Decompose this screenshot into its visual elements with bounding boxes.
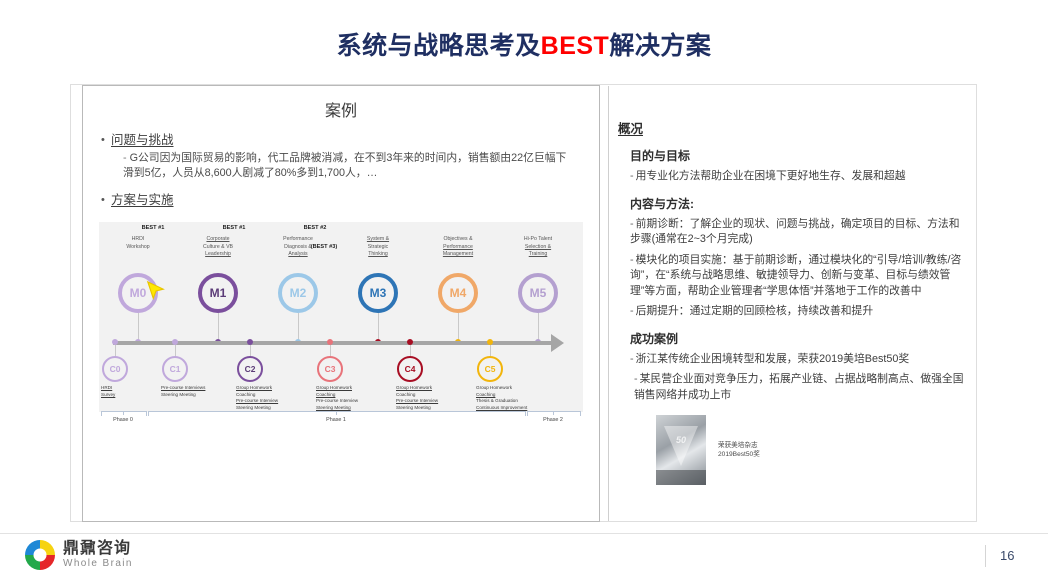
module-label-line: Thinking <box>335 251 421 259</box>
module-label-line: Selection & <box>495 244 581 252</box>
module-label-m5: Hi-Po Talent Selection & Training <box>495 236 581 259</box>
checkpoint-desc-line: Group Homework <box>396 385 476 392</box>
best-tag-left: BEST #1 <box>123 225 183 231</box>
module-label-line: Corporate <box>175 236 261 244</box>
section-heading: 问题与挑战 <box>111 133 174 148</box>
module-label-m2: Performance Diagnosis & Analysis <box>255 236 341 259</box>
checkpoint-desc-line: Thesis & Graduation <box>476 398 556 405</box>
checkpoint-node-label: C0 <box>110 364 121 374</box>
module-node-label: M5 <box>530 286 547 300</box>
section-body-problem: -G公司因为国际贸易的影响，代工品牌被消减，在不到3年来的时间内，销售额由22亿… <box>123 151 575 181</box>
module-node-label: M0 <box>130 286 147 300</box>
module-label-line: Analysis <box>255 251 341 259</box>
award-block: 50 荣获美培杂志 2019Best50奖 <box>656 415 970 485</box>
checkpoint-desc-line: Coaching <box>476 392 556 399</box>
checkpoint-node-c3[interactable]: C3 <box>317 356 343 382</box>
trophy-glass <box>664 426 698 466</box>
checkpoint-node-label: C1 <box>170 364 181 374</box>
case-heading: 案例 <box>83 97 599 121</box>
column-divider <box>608 86 609 521</box>
checkpoint-desc-c5: Group Homework Coaching Thesis & Graduat… <box>476 385 556 411</box>
phase-bracket-0 <box>101 411 147 416</box>
module-node-m3[interactable]: M3 <box>358 273 398 313</box>
brand-logo: 鼎鼐咨询 Whole Brain <box>25 540 133 570</box>
phase-label-1: Phase 1 <box>306 417 366 423</box>
overview-text: 后期提升：通过定期的回顾检核，持续改善和提升 <box>636 305 874 317</box>
section-body-text: G公司因为国际贸易的影响，代工品牌被消减，在不到3年来的时间内，销售额由22亿巨… <box>123 152 566 179</box>
module-node-m1[interactable]: M1 <box>198 273 238 313</box>
section-heading: 方案与实施 <box>111 193 174 208</box>
module-stem <box>138 313 139 341</box>
dash-marker: - <box>634 373 638 385</box>
whole-brain-logo-icon <box>25 540 55 570</box>
checkpoint-node-c0[interactable]: C0 <box>102 356 128 382</box>
overview-subheading-method: 内容与方法: <box>630 195 970 212</box>
module-label-line: Hi-Po Talent <box>495 236 581 244</box>
overview-text-case2: -某民营企业面对竞争压力，拓展产业链、占据战略制高点、做强全国销售网络并成功上市 <box>634 372 970 403</box>
phase-bracket-1 <box>148 411 526 416</box>
checkpoint-desc-line: Pre-course Interview <box>396 398 476 405</box>
phase-label-0: Phase 0 <box>93 417 153 423</box>
brand-name-cn: 鼎鼐咨询 <box>63 540 133 557</box>
page-title: 系统与战略思考及BEST解决方案 <box>0 26 1048 62</box>
checkpoint-desc-c4: Group Homework Coaching Pre-course Inter… <box>396 385 476 411</box>
dash-marker: - <box>630 305 634 317</box>
overview-heading: 概况 <box>618 118 970 137</box>
brand-text: 鼎鼐咨询 Whole Brain <box>63 540 133 570</box>
module-label-line: Management <box>415 251 501 259</box>
dash-marker: - <box>630 170 634 182</box>
trophy-image: 50 <box>656 415 706 485</box>
checkpoint-desc-line: Coaching <box>316 392 396 399</box>
module-label-m0: HRDI Workshop <box>95 236 181 251</box>
checkpoint-desc-c1: Pre-course Interviews Steering Meeting <box>161 385 241 398</box>
module-stem <box>538 313 539 341</box>
checkpoint-desc-line: Steering Meeting <box>161 392 241 399</box>
case-section-problem: • 问题与挑战 <box>101 133 599 148</box>
trophy-number: 50 <box>656 435 706 445</box>
checkpoint-desc-line: Pre-course Interview <box>316 398 396 405</box>
module-label-line: Training <box>495 251 581 259</box>
checkpoint-node-label: C2 <box>245 364 256 374</box>
checkpoint-desc-c3: Group Homework Coaching Pre-course Inter… <box>316 385 396 411</box>
logo-center-ring <box>34 549 47 562</box>
module-label-line: Objectives & <box>415 236 501 244</box>
overview-text: 浙江某传统企业困境转型和发展，荣获2019美培Best50奖 <box>636 353 910 365</box>
module-label-line: Performance <box>415 244 501 252</box>
bullet-dot: • <box>101 133 111 148</box>
module-label-line: Culture & VB <box>175 244 261 252</box>
module-node-label: M3 <box>370 286 387 300</box>
dash-marker: - <box>123 152 127 164</box>
checkpoint-desc-line: Coaching <box>236 392 316 399</box>
module-node-label: M1 <box>210 286 227 300</box>
module-node-m4[interactable]: M4 <box>438 273 478 313</box>
module-label-line: Performance <box>255 236 341 244</box>
award-caption-line2: 2019Best50奖 <box>718 450 760 459</box>
checkpoint-node-c1[interactable]: C1 <box>162 356 188 382</box>
overview-text-diagnosis: -前期诊断：了解企业的现状、问题与挑战，确定项目的目标、方法和步骤(通常在2~3… <box>630 217 970 248</box>
module-node-label: M4 <box>450 286 467 300</box>
dash-marker: - <box>630 254 634 266</box>
module-label-line: HRDI <box>95 236 181 244</box>
module-node-label: M2 <box>290 286 307 300</box>
overview-text-case1: -浙江某传统企业困境转型和发展，荣获2019美培Best50奖 <box>630 352 970 368</box>
module-stem <box>298 313 299 341</box>
overview-text: 用专业化方法帮助企业在困境下更好地生存、发展和超越 <box>636 170 906 182</box>
module-label-line: System & <box>335 236 421 244</box>
bullet-dot: • <box>101 193 111 208</box>
award-caption-line1: 荣获美培杂志 <box>718 441 760 450</box>
overview-text-followup: -后期提升：通过定期的回顾检核，持续改善和提升 <box>630 304 970 320</box>
module-stem <box>378 313 379 341</box>
overview-panel: 概况 目的与目标 -用专业化方法帮助企业在困境下更好地生存、发展和超越 内容与方… <box>618 118 970 485</box>
footer-divider <box>0 533 1048 534</box>
dash-marker: - <box>630 353 634 365</box>
checkpoint-node-c2[interactable]: C2 <box>237 356 263 382</box>
checkpoint-node-label: C5 <box>485 364 496 374</box>
checkpoint-desc-line: Pre-course Interview <box>236 398 316 405</box>
phase-bracket-2 <box>527 411 581 416</box>
checkpoint-desc-line: Group Homework <box>316 385 396 392</box>
module-stem <box>458 313 459 341</box>
page-number: 16 <box>1000 548 1014 563</box>
overview-text: 模块化的项目实施：基于前期诊断，通过模块化的“引导/培训/教练/咨询”，在“系统… <box>630 254 961 297</box>
overview-subheading-purpose: 目的与目标 <box>630 147 970 164</box>
checkpoint-node-label: C3 <box>325 364 336 374</box>
title-main: 系统与战略思考及 <box>337 32 541 60</box>
module-label-line: Workshop <box>95 244 181 252</box>
checkpoint-desc-line: Pre-course Interviews <box>161 385 241 392</box>
cursor-arrow-icon <box>145 280 167 302</box>
timeline-arrow-icon <box>551 334 564 352</box>
phase-label-2: Phase 2 <box>523 417 583 423</box>
module-label-m1: Corporate Culture & VB Leadership <box>175 236 261 259</box>
module-label-line: Diagnosis & <box>255 244 341 252</box>
checkpoint-desc-c2: Group Homework Coaching Pre-course Inter… <box>236 385 316 411</box>
checkpoint-node-c4[interactable]: C4 <box>397 356 423 382</box>
trophy-base <box>656 470 706 485</box>
phase-tick <box>553 411 554 415</box>
overview-text-modular: -模块化的项目实施：基于前期诊断，通过模块化的“引导/培训/教练/咨询”，在“系… <box>630 253 970 300</box>
phase-tick <box>123 411 124 415</box>
module-node-m5[interactable]: M5 <box>518 273 558 313</box>
award-caption: 荣获美培杂志 2019Best50奖 <box>718 441 760 459</box>
checkpoint-desc-line: Group Homework <box>236 385 316 392</box>
brand-name-en: Whole Brain <box>63 557 133 570</box>
title-accent: BEST <box>541 32 610 60</box>
overview-text-purpose: -用专业化方法帮助企业在困境下更好地生存、发展和超越 <box>630 169 970 185</box>
overview-text: 前期诊断：了解企业的现状、问题与挑战，确定项目的目标、方法和步骤(通常在2~3个… <box>630 218 960 246</box>
best-tag-m1: BEST #1 <box>204 225 264 231</box>
dash-marker: - <box>630 218 634 230</box>
title-tail: 解决方案 <box>609 32 711 60</box>
module-label-m4: Objectives & Performance Management <box>415 236 501 259</box>
module-label-m3: System & Strategic Thinking <box>335 236 421 259</box>
case-section-solution: • 方案与实施 <box>101 193 599 208</box>
overview-subheading-cases: 成功案例 <box>630 330 970 347</box>
module-node-m2[interactable]: M2 <box>278 273 318 313</box>
module-label-line: Leadership <box>175 251 261 259</box>
checkpoint-node-label: C4 <box>405 364 416 374</box>
roadmap-diagram: BEST #1 BEST #1 BEST #2 (BEST #3) HRDI W… <box>99 222 583 412</box>
checkpoint-desc-line: Coaching <box>396 392 476 399</box>
best-tag-m3: BEST #2 <box>285 225 345 231</box>
checkpoint-node-c5[interactable]: C5 <box>477 356 503 382</box>
checkpoint-desc-line: Group Homework <box>476 385 556 392</box>
module-stem <box>218 313 219 341</box>
overview-text: 某民营企业面对竞争压力，拓展产业链、占据战略制高点、做强全国销售网络并成功上市 <box>634 373 964 401</box>
phase-tick <box>336 411 337 415</box>
module-label-line: Strategic <box>335 244 421 252</box>
page-number-divider <box>985 545 986 567</box>
case-card: 案例 • 问题与挑战 -G公司因为国际贸易的影响，代工品牌被消减，在不到3年来的… <box>82 85 600 522</box>
